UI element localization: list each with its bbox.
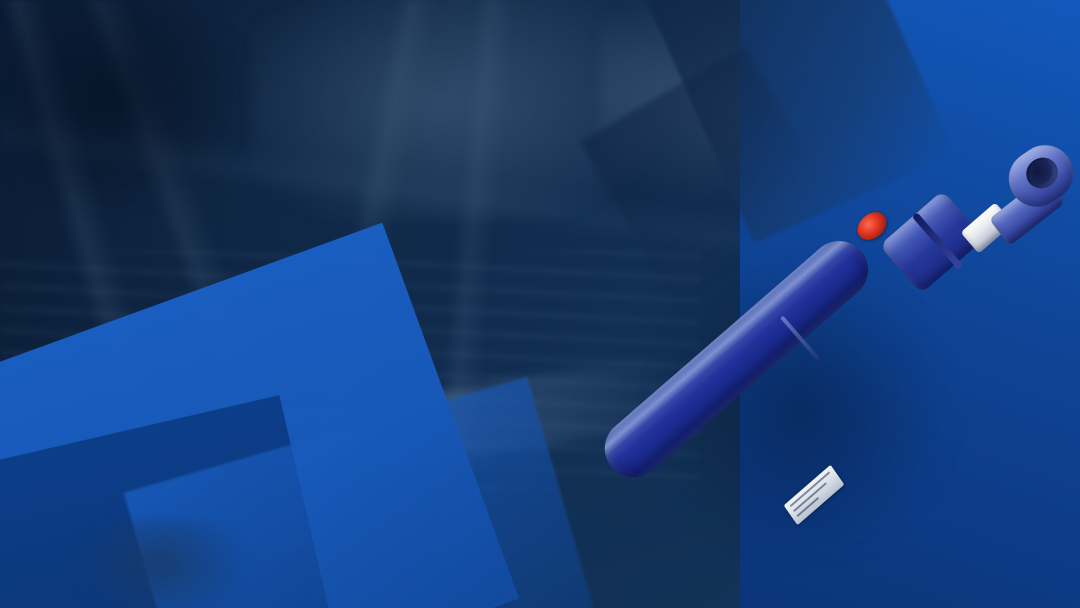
background-blob-left [0,0,260,220]
promo-banner: HSG工程液压油缸（16/21Mpa） 品牌大厂 外观精美 出口欧美国际 缸径6… [0,0,1080,608]
background-machine-lump [70,520,250,608]
